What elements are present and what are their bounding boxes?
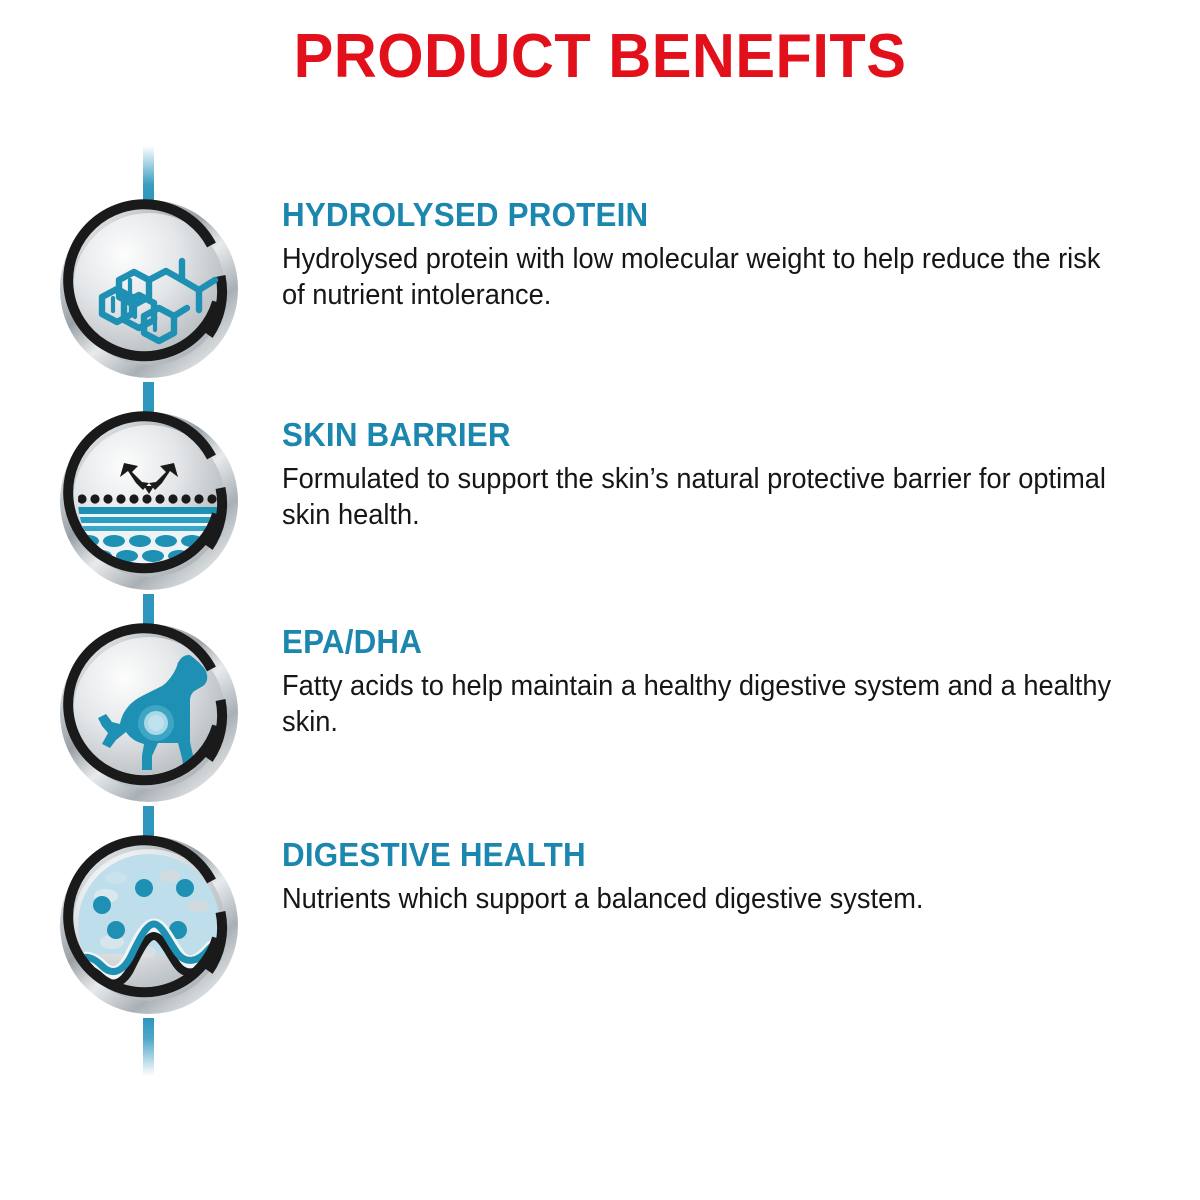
connector-rail bbox=[0, 0, 300, 1200]
benefit-text-block: DIGESTIVE HEALTH Nutrients which support… bbox=[282, 838, 1162, 918]
benefit-heading: DIGESTIVE HEALTH bbox=[282, 838, 1118, 873]
benefit-description: Hydrolysed protein with low molecular we… bbox=[282, 242, 1122, 314]
molecule-icon bbox=[58, 198, 240, 380]
connector-top bbox=[143, 146, 154, 202]
benefit-text-block: HYDROLYSED PROTEIN Hydrolysed protein wi… bbox=[282, 198, 1162, 313]
benefit-text-block: EPA/DHA Fatty acids to help maintain a h… bbox=[282, 625, 1162, 740]
digestive-wave-icon bbox=[58, 834, 240, 1016]
benefit-heading: HYDROLYSED PROTEIN bbox=[282, 198, 1118, 233]
benefit-heading: SKIN BARRIER bbox=[282, 418, 1118, 453]
benefit-description: Formulated to support the skin’s natural… bbox=[282, 462, 1122, 534]
connector-bottom bbox=[143, 1018, 154, 1076]
benefit-description: Fatty acids to help maintain a healthy d… bbox=[282, 669, 1122, 741]
page-title: PRODUCT BENEFITS bbox=[24, 26, 1176, 88]
skin-barrier-icon bbox=[58, 410, 240, 592]
dog-icon bbox=[58, 622, 240, 804]
benefit-description: Nutrients which support a balanced diges… bbox=[282, 882, 1122, 918]
benefit-heading: EPA/DHA bbox=[282, 625, 1118, 660]
benefit-text-block: SKIN BARRIER Formulated to support the s… bbox=[282, 418, 1162, 533]
